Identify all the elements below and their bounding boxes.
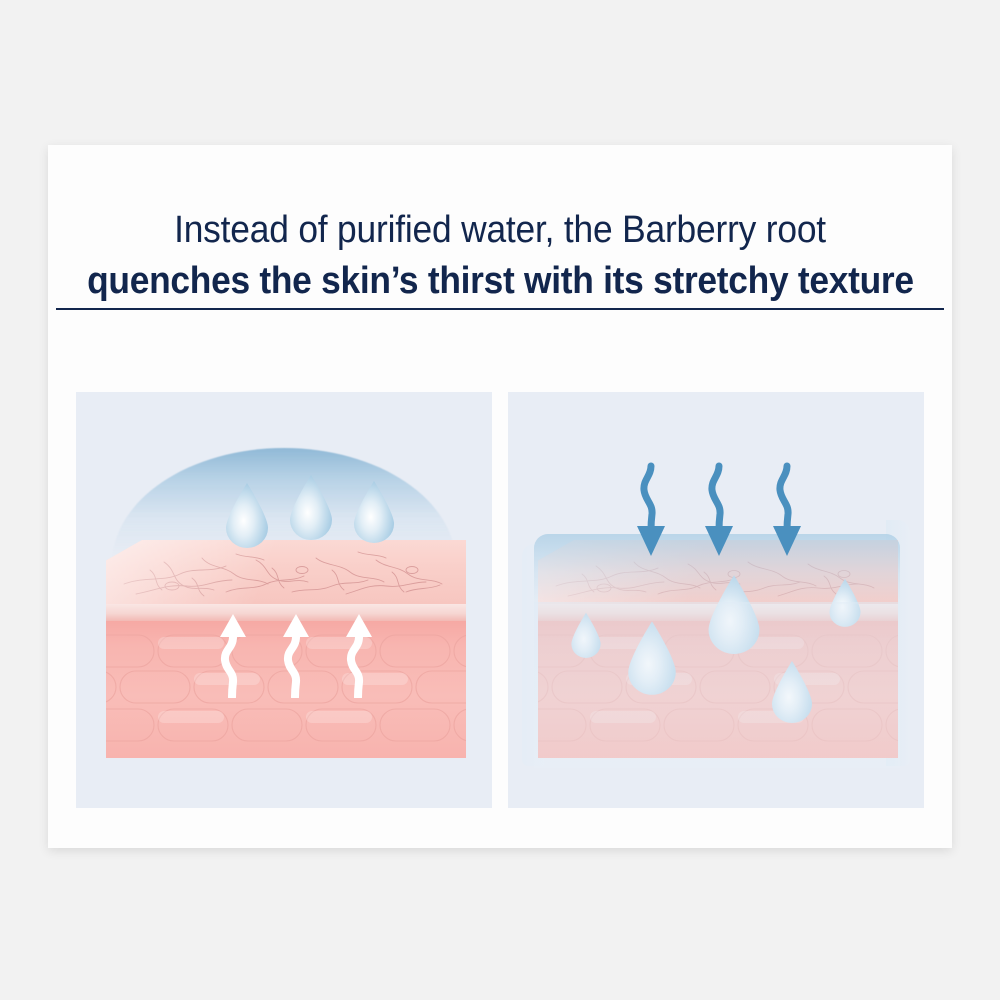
- moisture-escaping-up-arrow-2: [279, 612, 313, 698]
- moisture-escaping-up-arrow-3: [342, 612, 376, 698]
- heading-line-2: quenches the skin’s thirst with its stre…: [87, 257, 914, 305]
- page-title: Instead of purified water, the Barberry …: [48, 205, 952, 310]
- heading-line-1: Instead of purified water, the Barberry …: [80, 205, 921, 255]
- moisture-absorbing-down-arrow-1: [634, 462, 668, 564]
- comparison-panels: [76, 392, 924, 808]
- content-card: Instead of purified water, the Barberry …: [48, 145, 952, 848]
- droplet-3: [352, 480, 396, 543]
- skin-top-shine: [106, 540, 466, 604]
- moisture-escaping-up-arrow-1: [216, 612, 250, 698]
- heading-line-2-underline: quenches the skin’s thirst with its stre…: [56, 257, 945, 310]
- moisture-absorbing-down-arrow-2: [702, 462, 736, 564]
- droplet-1: [224, 482, 270, 548]
- purified-water-panel: [76, 392, 492, 808]
- moisture-absorbing-down-arrow-3: [770, 462, 804, 564]
- droplet-2: [288, 474, 334, 540]
- barberry-root-panel: [508, 392, 924, 808]
- illustration-stage: Instead of purified water, the Barberry …: [0, 0, 1000, 1000]
- moisture-film-front: [534, 602, 900, 768]
